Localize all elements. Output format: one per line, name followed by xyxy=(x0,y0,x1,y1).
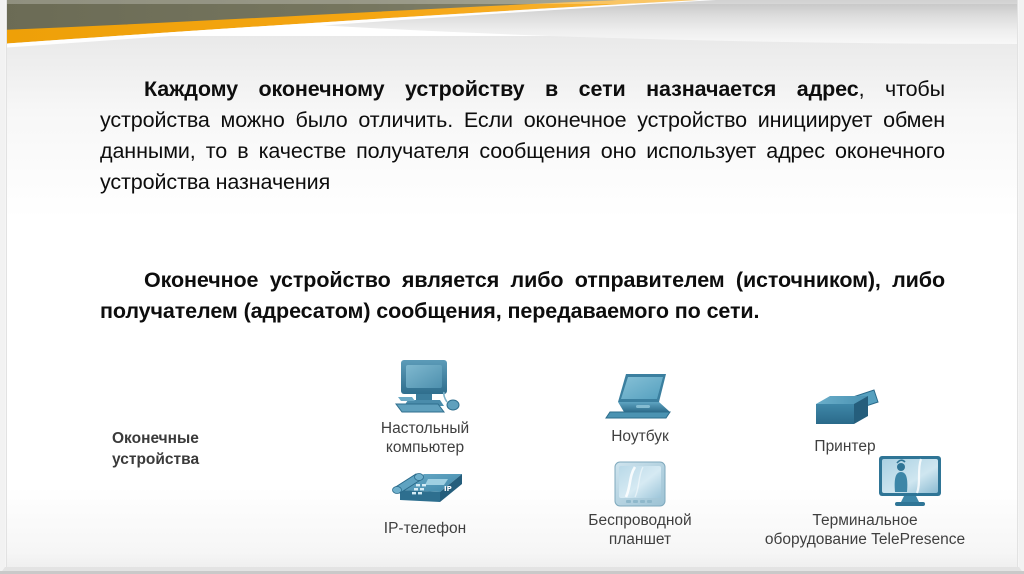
ip-phone-glyph: IP xyxy=(382,468,468,516)
device-desktop-computer: Настольный компьютер xyxy=(330,358,520,457)
end-devices-group-label: Оконечные устройства xyxy=(112,428,242,470)
device-laptop: Ноутбук xyxy=(555,366,725,446)
device-telepresence: Терминальное оборудование TelePresence xyxy=(670,450,1024,549)
wireless-tablet-glyph xyxy=(613,460,667,508)
telepresence-monitor-icon xyxy=(670,450,1024,508)
device-label-laptop: Ноутбук xyxy=(555,427,725,446)
printer-icon xyxy=(750,376,940,434)
device-printer: Принтер xyxy=(750,376,940,456)
device-label-telepresence: Терминальное оборудование TelePresence xyxy=(670,511,1024,549)
telepresence-glyph xyxy=(877,454,943,508)
svg-text:IP: IP xyxy=(444,485,452,493)
paragraph-1-bold-lead: Каждому оконечному устройству в сети наз… xyxy=(144,77,859,101)
desktop-computer-glyph xyxy=(388,358,462,416)
paragraph-2: Оконечное устройство является либо отпра… xyxy=(100,265,945,327)
device-ip-phone: IP IP-телефон xyxy=(330,458,520,538)
slide: Каждому оконечному устройству в сети наз… xyxy=(0,0,1024,574)
ip-phone-icon: IP xyxy=(330,458,520,516)
printer-glyph xyxy=(806,388,884,434)
device-label-ip-phone: IP-телефон xyxy=(330,519,520,538)
slide-left-edge xyxy=(5,0,7,567)
desktop-computer-icon xyxy=(330,358,520,416)
end-devices-diagram: Оконечные устройства xyxy=(100,358,960,548)
paragraph-2-text: Оконечное устройство является либо отпра… xyxy=(100,268,945,323)
paragraph-1: Каждому оконечному устройству в сети наз… xyxy=(100,74,945,198)
slide-right-edge xyxy=(1017,0,1019,567)
device-label-desktop: Настольный компьютер xyxy=(330,419,520,457)
laptop-icon xyxy=(555,366,725,424)
laptop-glyph xyxy=(604,372,676,424)
slide-content: Каждому оконечному устройству в сети наз… xyxy=(0,0,1024,574)
